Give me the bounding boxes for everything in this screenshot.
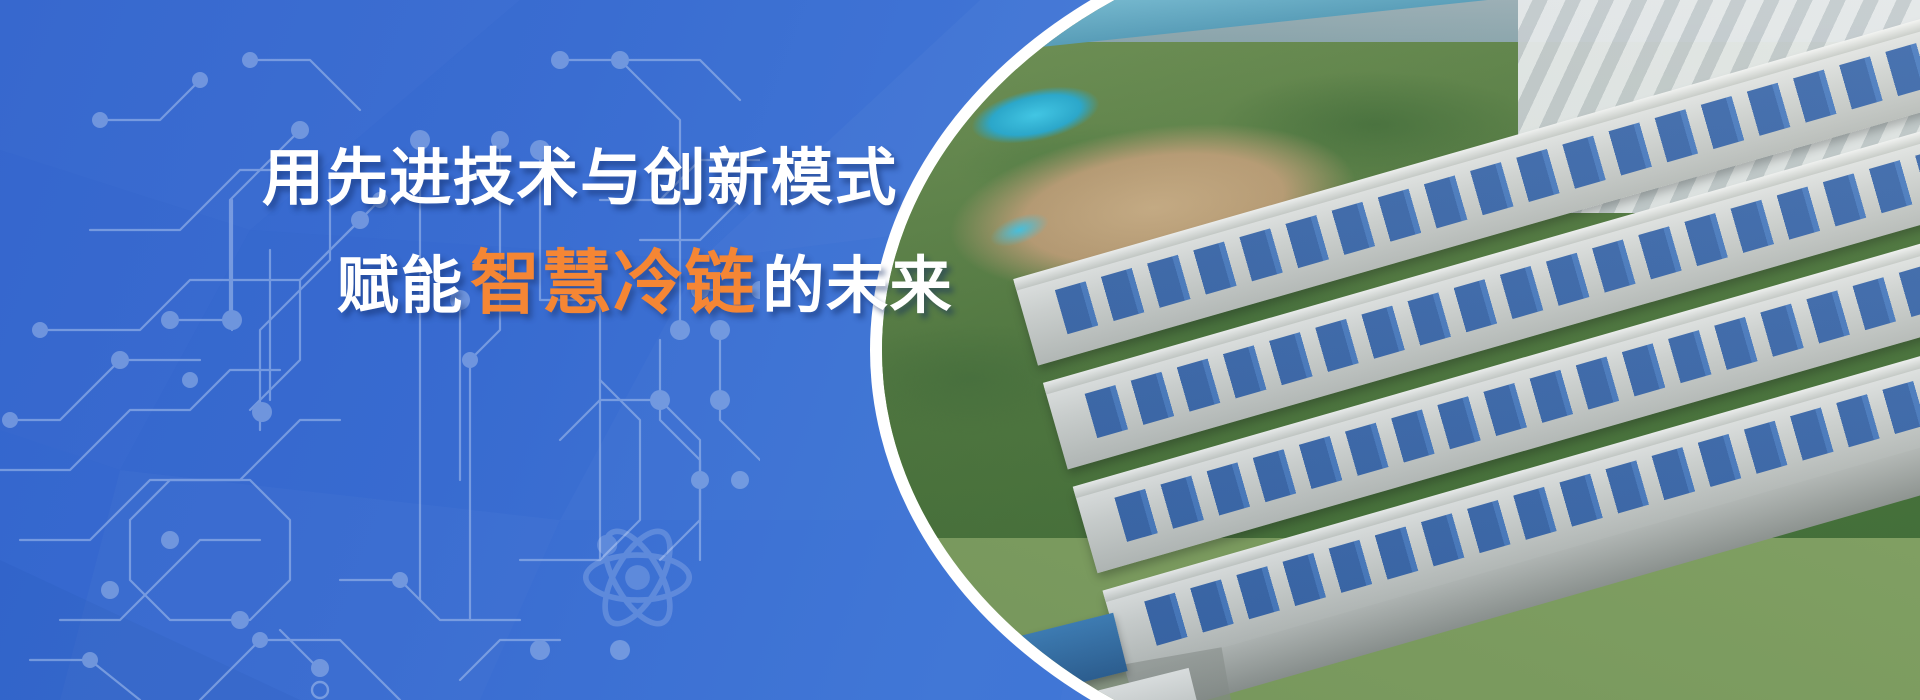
atom-icon — [570, 510, 705, 645]
hero-headline: 用先进技术与创新模式 赋能智慧冷链的未来 — [0, 138, 1140, 328]
headline-highlight: 智慧冷链 — [464, 241, 762, 324]
hero-photo — [940, 0, 1920, 700]
hero-banner: 用先进技术与创新模式 赋能智慧冷链的未来 — [0, 0, 1920, 700]
headline-line-1: 用先进技术与创新模式 — [0, 138, 1140, 219]
headline-line2-suffix: 的未来 — [762, 249, 953, 322]
photo-content — [882, 0, 1920, 700]
headline-line2-prefix: 赋能 — [337, 249, 464, 322]
headline-line-2: 赋能智慧冷链的未来 — [0, 237, 1140, 328]
factory-aerial-photo — [882, 0, 1920, 700]
